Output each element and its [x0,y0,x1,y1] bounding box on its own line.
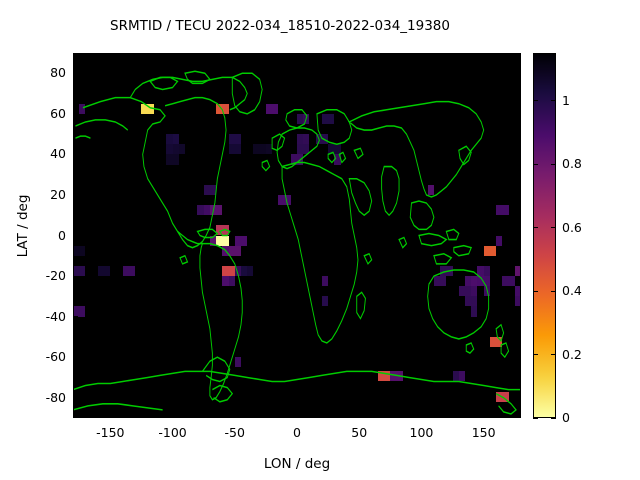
y-axis-tick-label: 60 [26,106,66,121]
x-axis-tick [483,413,484,418]
x-axis-tick [297,413,298,418]
colorbar-tick-label: 0.6 [562,220,602,235]
colorbar-tick [533,291,538,292]
y-axis-tick-label: 40 [26,146,66,161]
colorbar-tick [551,164,556,165]
y-axis-label: LAT / deg [15,171,31,281]
y-axis-tick-label: -60 [26,349,66,364]
x-axis-tick-label: -100 [143,425,203,440]
y-axis-tick [516,194,521,195]
y-axis-tick [516,316,521,317]
y-axis-tick-label: -80 [26,390,66,405]
x-axis-tick [234,413,235,418]
x-axis-tick [110,413,111,418]
x-axis-tick-label: -50 [205,425,265,440]
x-axis-tick-label: 150 [454,425,514,440]
y-axis-tick [73,235,78,236]
y-axis-tick [73,397,78,398]
y-axis-tick-label: -40 [26,309,66,324]
x-axis-tick-label: 0 [267,425,327,440]
y-axis-tick [73,73,78,74]
x-axis-tick [234,53,235,58]
y-axis-tick [73,316,78,317]
x-axis-tick [297,53,298,58]
coastline-paths [73,71,521,414]
x-axis-tick-label: -150 [80,425,140,440]
colorbar-tick-label: 0.4 [562,283,602,298]
x-axis-tick [483,53,484,58]
colorbar-tick [551,100,556,101]
x-axis-tick [359,413,360,418]
colorbar-tick-label: 0.8 [562,156,602,171]
figure-root: SRMTID / TECU 2022-034_18510-2022-034_19… [0,0,640,480]
coastline-layer [73,53,521,418]
x-axis-label: LON / deg [73,456,521,472]
x-axis-tick [172,413,173,418]
x-axis-tick [172,53,173,58]
y-axis-tick [516,276,521,277]
colorbar-tick [533,100,538,101]
colorbar-tick [551,291,556,292]
chart-title: SRMTID / TECU 2022-034_18510-2022-034_19… [0,18,560,34]
colorbar-tick [533,164,538,165]
y-axis-tick [73,194,78,195]
y-axis-tick [73,154,78,155]
y-axis-tick [516,357,521,358]
colorbar-tick [551,354,556,355]
map-plot-area [73,53,521,418]
colorbar-tick [551,227,556,228]
colorbar-tick [551,418,556,419]
y-axis-tick [516,73,521,74]
y-axis-tick [73,113,78,114]
x-axis-tick [421,53,422,58]
y-axis-tick-label: -20 [26,268,66,283]
colorbar-tick [533,354,538,355]
x-axis-tick-label: 50 [329,425,389,440]
y-axis-tick [516,235,521,236]
colorbar-tick-label: 0.2 [562,347,602,362]
x-axis-tick [359,53,360,58]
colorbar-gradient [534,54,555,417]
y-axis-tick [516,113,521,114]
colorbar-tick [533,418,538,419]
y-axis-tick [516,397,521,398]
colorbar-tick-label: 1 [562,93,602,108]
y-axis-tick [73,276,78,277]
y-axis-tick-label: 20 [26,187,66,202]
y-axis-tick [73,357,78,358]
x-axis-tick [421,413,422,418]
x-axis-tick-label: 100 [391,425,451,440]
colorbar [533,53,556,418]
colorbar-tick [533,227,538,228]
y-axis-tick [516,154,521,155]
x-axis-tick [110,53,111,58]
colorbar-tick-label: 0 [562,410,602,425]
y-axis-tick-label: 80 [26,65,66,80]
y-axis-tick-label: 0 [26,228,66,243]
